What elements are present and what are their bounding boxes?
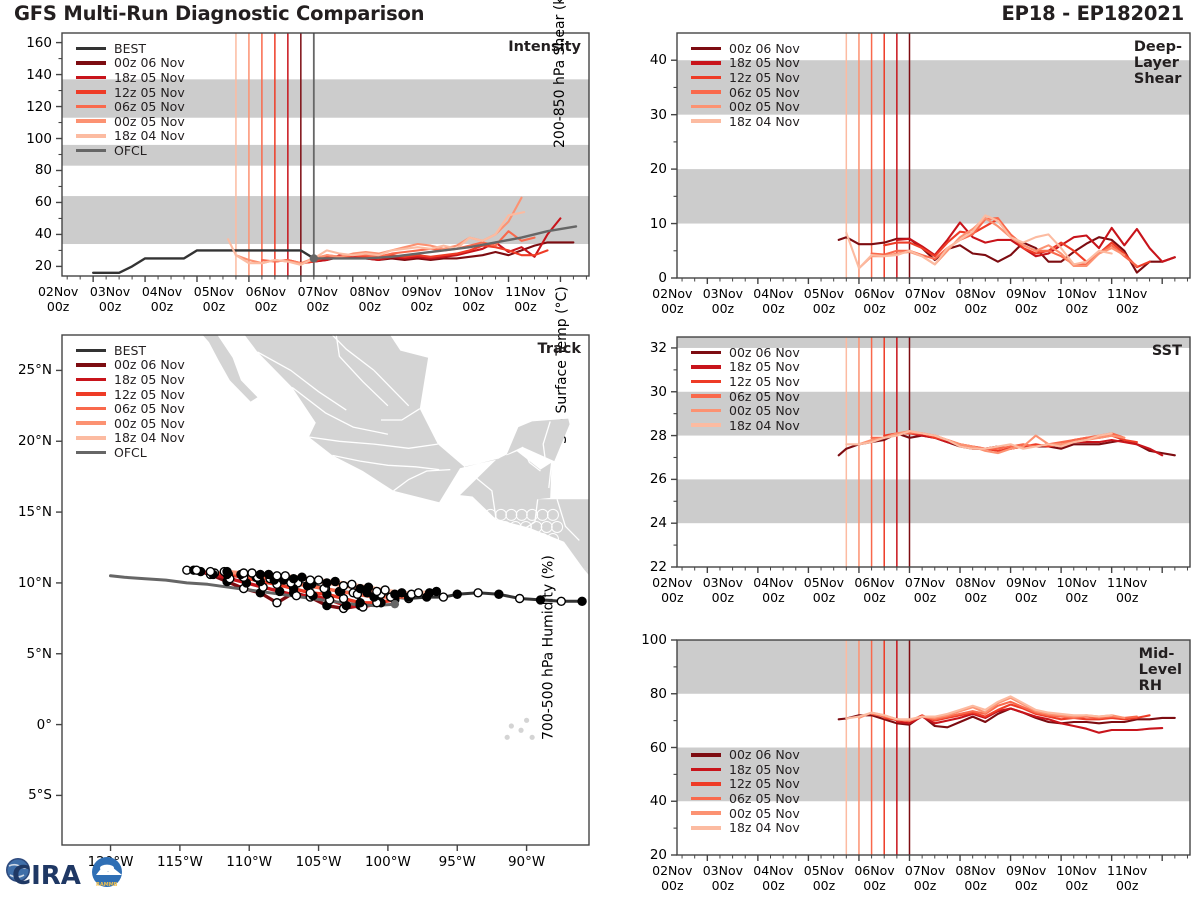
- sst-band-0: [677, 479, 1190, 523]
- map-border-2: [258, 352, 347, 410]
- legend-label-run_12z05nov: 12z 05 Nov: [729, 70, 800, 85]
- xtick-day: 10Nov: [453, 284, 493, 299]
- track-marker-filled: [423, 593, 431, 601]
- track-lines-group: [111, 566, 587, 612]
- legend-swatch-best: [76, 47, 106, 51]
- track-marker-filled: [323, 590, 331, 598]
- rh-legend-item-run_00z05nov[interactable]: 00z 05 Nov: [691, 806, 800, 821]
- track-legend: BEST00z 06 Nov18z 05 Nov12z 05 Nov06z 05…: [76, 343, 185, 460]
- track-marker-hollow: [281, 572, 289, 580]
- legend-swatch-run_00z06nov: [691, 47, 721, 51]
- map-district-outline: [552, 521, 563, 532]
- xtick-hour: 00z: [1116, 590, 1138, 605]
- xtick-hour: 00z: [863, 301, 885, 316]
- track-map-landmass: [151, 264, 703, 740]
- track-marker-filled: [356, 585, 364, 593]
- track-legend-item-run_18z05nov[interactable]: 18z 05 Nov: [76, 372, 185, 387]
- rh-series-18z-04-nov: [846, 696, 1111, 719]
- track-marker-filled: [453, 590, 461, 598]
- track-series-18z-04-nov: [252, 573, 436, 593]
- track-marker-filled: [290, 589, 298, 597]
- legend-swatch-run_18z04nov: [76, 436, 106, 440]
- track-legend-item-ofcl[interactable]: OFCL: [76, 445, 185, 460]
- panels-container: Intensity10m Max Wind Speed (kt)20406080…: [0, 0, 1200, 900]
- legend-swatch-run_18z05nov: [691, 768, 721, 772]
- xtick-hour: 00z: [914, 878, 936, 893]
- map-district-outline: [547, 509, 558, 520]
- track-marker-filled: [308, 580, 316, 588]
- track-marker-filled: [370, 593, 378, 601]
- xtick-hour: 00z: [964, 590, 986, 605]
- shear-legend-item-run_18z05nov[interactable]: 18z 05 Nov: [691, 56, 800, 71]
- map-district-outline: [537, 534, 548, 545]
- track-marker-filled: [426, 589, 434, 597]
- rh-legend-item-run_12z05nov[interactable]: 12z 05 Nov: [691, 777, 800, 792]
- legend-label-best: BEST: [114, 343, 146, 358]
- legend-swatch-run_06z05nov: [691, 797, 721, 801]
- legend-label-run_18z05nov: 18z 05 Nov: [729, 359, 800, 374]
- track-marker-filled: [223, 578, 231, 586]
- xtick-hour: 00z: [661, 590, 683, 605]
- xtick-hour: 00z: [410, 299, 432, 314]
- intensity-ytick-label: 20: [35, 258, 52, 274]
- xtick-hour: 00z: [1065, 301, 1087, 316]
- shear-legend-item-run_00z06nov[interactable]: 00z 06 Nov: [691, 41, 800, 56]
- sst-series-06z-05-nov: [872, 433, 1125, 448]
- track-ytick-label: 5°S: [28, 787, 52, 803]
- sst-legend: 00z 06 Nov18z 05 Nov12z 05 Nov06z 05 Nov…: [691, 345, 800, 433]
- xtick-hour: 00z: [712, 878, 734, 893]
- intensity-legend: BEST00z 06 Nov18z 05 Nov12z 05 Nov06z 05…: [76, 41, 185, 158]
- sst-ytick-label: 28: [650, 428, 667, 444]
- legend-swatch-run_18z04nov: [691, 119, 721, 123]
- intensity-series-18z-05-nov: [288, 218, 561, 263]
- xtick-day: 02Nov: [652, 286, 692, 301]
- track-marker-hollow: [405, 595, 413, 603]
- xtick-day: 05Nov: [804, 863, 844, 878]
- legend-swatch-run_18z05nov: [76, 378, 106, 382]
- legend-label-run_00z06nov: 00z 06 Nov: [729, 345, 800, 360]
- xtick-hour: 00z: [47, 299, 69, 314]
- track-marker-filled: [256, 589, 264, 597]
- sst-legend-item-run_18z05nov[interactable]: 18z 05 Nov: [691, 360, 800, 375]
- xtick-day: 07Nov: [298, 284, 338, 299]
- legend-swatch-run_12z05nov: [76, 90, 106, 94]
- map-border-5: [332, 455, 439, 469]
- sst-y-axis-label: Sea Surface Temp (°C): [554, 286, 570, 444]
- map-district-outline: [506, 509, 517, 520]
- sst-ytick-label: 26: [650, 471, 667, 487]
- xtick-day: 08Nov: [955, 286, 995, 301]
- map-district-outline: [520, 521, 531, 532]
- map-district-outline: [520, 546, 531, 557]
- legend-label-run_18z04nov: 18z 04 Nov: [729, 820, 800, 835]
- xtick-hour: 00z: [813, 301, 835, 316]
- xtick-hour: 00z: [762, 878, 784, 893]
- legend-swatch-run_12z05nov: [76, 392, 106, 396]
- track-marker-filled: [276, 587, 284, 595]
- shear-band-0: [677, 169, 1190, 223]
- xtick-hour: 00z: [1065, 590, 1087, 605]
- legend-swatch-run_18z04nov: [691, 423, 721, 427]
- intensity-legend-item-best[interactable]: BEST: [76, 41, 185, 56]
- legend-label-run_18z04nov: 18z 04 Nov: [729, 114, 800, 129]
- track-marker-hollow: [474, 589, 482, 597]
- xtick-hour: 00z: [914, 301, 936, 316]
- track-marker-hollow: [287, 579, 295, 587]
- track-marker-filled: [252, 573, 260, 581]
- track-marker-filled: [323, 579, 331, 587]
- map-district-outline: [500, 546, 511, 557]
- xtick-hour: 00z: [813, 590, 835, 605]
- intensity-ytick-label: 60: [35, 194, 52, 210]
- shear-ytick-label: 40: [650, 52, 667, 68]
- rh-series-18z-05-nov: [897, 709, 1162, 733]
- track-marker-filled: [256, 578, 264, 586]
- xtick-day: 10Nov: [1057, 575, 1097, 590]
- xtick-day: 08Nov: [955, 575, 995, 590]
- track-marker-filled: [363, 589, 371, 597]
- legend-swatch-run_12z05nov: [691, 782, 721, 786]
- track-marker-hollow: [226, 575, 234, 583]
- map-district-outline: [527, 534, 538, 545]
- track-marker-filled: [323, 602, 331, 610]
- xtick-day: 02Nov: [38, 284, 78, 299]
- xtick-day: 11Nov: [1107, 286, 1147, 301]
- track-marker-hollow: [254, 573, 262, 581]
- track-marker-hollow: [211, 569, 219, 577]
- legend-label-run_12z05nov: 12z 05 Nov: [114, 387, 185, 402]
- legend-label-run_12z05nov: 12z 05 Nov: [114, 85, 185, 100]
- shear-ytick-label: 10: [650, 216, 667, 232]
- shear-y-axis-label: 200-850 hPa Shear (kt): [552, 0, 568, 148]
- rh-legend-item-run_00z06nov[interactable]: 00z 06 Nov: [691, 748, 800, 763]
- xtick-hour: 00z: [203, 299, 225, 314]
- rh-legend-item-run_18z05nov[interactable]: 18z 05 Nov: [691, 762, 800, 777]
- track-marker-filled: [405, 593, 413, 601]
- legend-label-run_18z04nov: 18z 04 Nov: [114, 128, 185, 143]
- legend-label-run_18z04nov: 18z 04 Nov: [114, 430, 185, 445]
- shear-ytick-label: 20: [650, 161, 667, 177]
- map-border-14: [557, 499, 579, 540]
- xtick-hour: 00z: [1015, 301, 1037, 316]
- track-marker-hollow: [373, 599, 381, 607]
- intensity-legend-item-run_18z05nov[interactable]: 18z 05 Nov: [76, 70, 185, 85]
- track-marker-filled: [209, 570, 217, 578]
- track-series-best: [187, 570, 582, 601]
- xtick-hour: 00z: [813, 878, 835, 893]
- track-marker-hollow: [322, 585, 330, 593]
- intensity-legend-item-ofcl[interactable]: OFCL: [76, 143, 185, 158]
- track-marker-hollow: [306, 589, 314, 597]
- xtick-day: 05Nov: [194, 284, 234, 299]
- sst-series-00z-06-nov: [839, 433, 1175, 455]
- xtick-hour: 00z: [661, 878, 683, 893]
- legend-swatch-run_00z05nov: [76, 421, 106, 425]
- map-district-outline: [495, 534, 506, 545]
- track-legend-item-run_12z05nov[interactable]: 12z 05 Nov: [76, 387, 185, 402]
- xtick-day: 04Nov: [142, 284, 182, 299]
- xtick-hour: 00z: [863, 590, 885, 605]
- legend-swatch-run_06z05nov: [76, 407, 106, 411]
- shear-legend-item-run_18z04nov[interactable]: 18z 04 Nov: [691, 114, 800, 129]
- svg-text:CIRA: CIRA: [12, 861, 81, 891]
- map-district-outline: [510, 546, 521, 557]
- track-legend-item-run_06z05nov[interactable]: 06z 05 Nov: [76, 401, 185, 416]
- shear-legend-item-run_06z05nov[interactable]: 06z 05 Nov: [691, 85, 800, 100]
- legend-label-run_00z06nov: 00z 06 Nov: [729, 41, 800, 56]
- rh-y-axis-label: 700-500 hPa Humidity (%): [541, 555, 557, 740]
- track-marker-filled: [495, 590, 503, 598]
- track-marker-hollow: [306, 576, 314, 584]
- legend-label-run_00z05nov: 00z 05 Nov: [729, 403, 800, 418]
- sst-legend-item-run_00z05nov[interactable]: 00z 05 Nov: [691, 403, 800, 418]
- map-border-10: [215, 331, 236, 349]
- track-marker-hollow: [348, 580, 356, 588]
- xtick-day: 05Nov: [804, 286, 844, 301]
- track-marker-filled: [223, 568, 231, 576]
- map-district-outline: [547, 534, 558, 545]
- legend-swatch-run_06z05nov: [76, 105, 106, 109]
- track-marker-hollow: [349, 589, 357, 597]
- map-district-outline: [495, 509, 506, 520]
- map-border-1: [332, 310, 388, 406]
- track-marker-filled: [398, 589, 406, 597]
- sst-xtick-label: 11Nov00z: [1092, 575, 1162, 605]
- legend-label-run_18z05nov: 18z 05 Nov: [114, 372, 185, 387]
- legend-swatch-run_00z05nov: [76, 119, 106, 123]
- legend-label-run_00z06nov: 00z 06 Nov: [114, 357, 185, 372]
- track-marker-hollow: [557, 597, 565, 605]
- track-marker-hollow: [381, 586, 389, 594]
- track-marker-filled: [331, 578, 339, 586]
- legend-label-run_18z04nov: 18z 04 Nov: [729, 418, 800, 433]
- intensity-legend-item-run_00z05nov[interactable]: 00z 05 Nov: [76, 114, 185, 129]
- track-xtick-label: 105°W: [296, 854, 342, 870]
- rh-ytick-label: 80: [650, 686, 667, 702]
- xtick-day: 09Nov: [401, 284, 441, 299]
- rh-band-1: [677, 640, 1190, 694]
- xtick-hour: 00z: [1015, 590, 1037, 605]
- track-marker-filled: [265, 570, 273, 578]
- xtick-day: 11Nov: [505, 284, 545, 299]
- map-border-9: [543, 421, 550, 465]
- xtick-day: 06Nov: [246, 284, 286, 299]
- xtick-day: 08Nov: [955, 863, 995, 878]
- legend-swatch-run_00z05nov: [691, 105, 721, 109]
- intensity-ofcl-origin-marker: [310, 254, 318, 262]
- map-border-8: [522, 447, 540, 471]
- xtick-hour: 00z: [762, 301, 784, 316]
- track-marker-filled: [364, 583, 372, 591]
- rh-series-00z-05-nov: [859, 698, 1124, 721]
- shear-series-18z-04-nov: [846, 215, 1111, 268]
- legend-label-run_00z05nov: 00z 05 Nov: [114, 416, 185, 431]
- xtick-day: 06Nov: [854, 575, 894, 590]
- intensity-band-0: [62, 196, 589, 244]
- sst-legend-item-run_06z05nov[interactable]: 06z 05 Nov: [691, 389, 800, 404]
- map-district-outline: [527, 509, 538, 520]
- sst-ytick-label: 22: [650, 559, 667, 575]
- xtick-hour: 00z: [661, 301, 683, 316]
- track-marker-filled: [356, 599, 364, 607]
- xtick-hour: 00z: [358, 299, 380, 314]
- rh-series-12z-05-nov: [884, 705, 1149, 722]
- xtick-hour: 00z: [307, 299, 329, 314]
- rh-ytick-label: 20: [650, 847, 667, 863]
- track-marker-filled: [298, 573, 306, 581]
- xtick-day: 03Nov: [90, 284, 130, 299]
- track-xtick-label: 90°W: [508, 854, 545, 870]
- xtick-hour: 00z: [462, 299, 484, 314]
- map-district-outline: [506, 534, 517, 545]
- map-border-17: [381, 409, 420, 420]
- legend-label-run_00z06nov: 00z 06 Nov: [729, 747, 800, 762]
- rh-ytick-label: 40: [650, 793, 667, 809]
- map-border-18: [374, 370, 409, 405]
- track-legend-item-best[interactable]: BEST: [76, 343, 185, 358]
- rh-legend-item-run_18z04nov[interactable]: 18z 04 Nov: [691, 820, 800, 835]
- intensity-legend-item-run_06z05nov[interactable]: 06z 05 Nov: [76, 99, 185, 114]
- legend-label-run_12z05nov: 12z 05 Nov: [729, 374, 800, 389]
- map-district-outline: [510, 521, 521, 532]
- shear-series-18z-05-nov: [897, 223, 1175, 262]
- legend-swatch-ofcl: [76, 451, 106, 455]
- track-marker-filled: [280, 576, 288, 584]
- xtick-hour: 00z: [762, 590, 784, 605]
- track-marker-filled: [578, 597, 586, 605]
- legend-label-run_00z05nov: 00z 05 Nov: [114, 114, 185, 129]
- shear-ytick-label: 30: [650, 107, 667, 123]
- shear-legend-item-run_12z05nov[interactable]: 12z 05 Nov: [691, 70, 800, 85]
- map-district-outline: [500, 521, 511, 532]
- track-marker-filled: [256, 570, 264, 578]
- track-xtick-label: 95°W: [439, 854, 476, 870]
- map-district-outline: [541, 521, 552, 532]
- xtick-day: 06Nov: [854, 863, 894, 878]
- intensity-legend-item-run_18z04nov[interactable]: 18z 04 Nov: [76, 129, 185, 144]
- legend-label-run_06z05nov: 06z 05 Nov: [729, 389, 800, 404]
- legend-swatch-run_00z06nov: [691, 753, 721, 757]
- map-district-outline: [516, 534, 527, 545]
- track-marker-hollow: [292, 592, 300, 600]
- track-marker-hollow: [259, 583, 267, 591]
- legend-swatch-run_18z04nov: [76, 134, 106, 138]
- map-border-4: [309, 437, 438, 448]
- map-district-outline: [537, 509, 548, 520]
- sst-legend-item-run_18z04nov[interactable]: 18z 04 Nov: [691, 418, 800, 433]
- track-legend-item-run_00z06nov[interactable]: 00z 06 Nov: [76, 358, 185, 373]
- track-series-00z-05-nov: [227, 572, 430, 595]
- legend-label-ofcl: OFCL: [114, 143, 147, 158]
- shear-ytick-label: 0: [658, 270, 667, 286]
- sst-panel-title: SST: [1152, 343, 1182, 359]
- xtick-hour: 00z: [1116, 878, 1138, 893]
- track-legend-item-run_00z05nov[interactable]: 00z 05 Nov: [76, 416, 185, 431]
- rh-legend-item-run_06z05nov[interactable]: 06z 05 Nov: [691, 791, 800, 806]
- xtick-hour: 00z: [712, 301, 734, 316]
- xtick-hour: 00z: [712, 590, 734, 605]
- track-xtick-label: 115°W: [157, 854, 203, 870]
- track-marker-hollow: [407, 590, 415, 598]
- rh-xtick-label: 11Nov00z: [1092, 863, 1162, 893]
- shear-series-00z-05-nov: [859, 218, 1124, 268]
- track-marker-hollow: [240, 585, 248, 593]
- rh-ytick-label: 100: [641, 632, 667, 648]
- intensity-ytick-label: 80: [35, 162, 52, 178]
- xtick-day: 09Nov: [1006, 286, 1046, 301]
- rh-legend: 00z 06 Nov18z 05 Nov12z 05 Nov06z 05 Nov…: [691, 748, 800, 836]
- track-ytick-label: 10°N: [18, 575, 52, 591]
- track-marker-filled: [290, 575, 298, 583]
- track-marker-hollow: [238, 572, 246, 580]
- track-marker-hollow: [294, 579, 302, 587]
- xtick-day: 06Nov: [854, 286, 894, 301]
- intensity-legend-item-run_00z06nov[interactable]: 00z 06 Nov: [76, 56, 185, 71]
- intensity-series-00z-05-nov: [236, 198, 522, 264]
- intensity-series-00z-06-nov: [301, 242, 574, 263]
- track-marker-hollow: [193, 566, 201, 574]
- legend-label-run_18z05nov: 18z 05 Nov: [729, 762, 800, 777]
- track-marker-hollow: [248, 569, 256, 577]
- xtick-hour: 00z: [914, 590, 936, 605]
- xtick-day: 05Nov: [804, 575, 844, 590]
- xtick-day: 07Nov: [905, 286, 945, 301]
- sst-legend-item-run_00z06nov[interactable]: 00z 06 Nov: [691, 345, 800, 360]
- track-marker-hollow: [240, 573, 248, 581]
- shear-series-06z-05-nov: [872, 218, 1137, 266]
- xtick-hour: 00z: [1065, 878, 1087, 893]
- xtick-day: 04Nov: [753, 863, 793, 878]
- rh-panel-title: Mid-Level RH: [1139, 646, 1182, 694]
- svg-text:RAMMB: RAMMB: [96, 882, 118, 888]
- track-marker-filled: [337, 587, 345, 595]
- xtick-day: 07Nov: [905, 863, 945, 878]
- map-border-6: [394, 470, 451, 491]
- track-xtick-label: 100°W: [365, 854, 411, 870]
- legend-label-run_18z05nov: 18z 05 Nov: [114, 70, 185, 85]
- map-border-3: [292, 387, 388, 434]
- sst-legend-item-run_12z05nov[interactable]: 12z 05 Nov: [691, 374, 800, 389]
- intensity-ytick-label: 120: [26, 99, 52, 115]
- track-marker-hollow: [266, 575, 274, 583]
- track-marker-filled: [197, 568, 205, 576]
- xtick-day: 02Nov: [652, 863, 692, 878]
- intensity-series-06z-05-nov: [262, 231, 535, 263]
- xtick-day: 04Nov: [753, 575, 793, 590]
- track-legend-item-run_18z04nov[interactable]: 18z 04 Nov: [76, 431, 185, 446]
- xtick-day: 08Nov: [350, 284, 390, 299]
- legend-swatch-run_00z05nov: [691, 811, 721, 815]
- legend-label-run_00z06nov: 00z 06 Nov: [114, 55, 185, 70]
- intensity-legend-item-run_12z05nov[interactable]: 12z 05 Nov: [76, 85, 185, 100]
- sst-series-00z-05-nov: [859, 431, 1124, 453]
- track-ytick-label: 20°N: [18, 433, 52, 449]
- map-district-outline: [516, 509, 527, 520]
- xtick-day: 10Nov: [1057, 863, 1097, 878]
- track-xtick-label: 110°W: [226, 854, 272, 870]
- xtick-hour: 00z: [1116, 301, 1138, 316]
- legend-swatch-run_00z06nov: [691, 351, 721, 355]
- track-marker-filled: [391, 593, 399, 601]
- intensity-series-best: [93, 250, 314, 272]
- track-marker-hollow: [340, 604, 348, 612]
- xtick-day: 10Nov: [1057, 286, 1097, 301]
- cira-logo: CIRA RAMMB: [4, 848, 126, 894]
- track-marker-filled: [391, 596, 399, 604]
- map-border-15: [589, 512, 621, 566]
- shear-legend-item-run_00z05nov[interactable]: 00z 05 Nov: [691, 99, 800, 114]
